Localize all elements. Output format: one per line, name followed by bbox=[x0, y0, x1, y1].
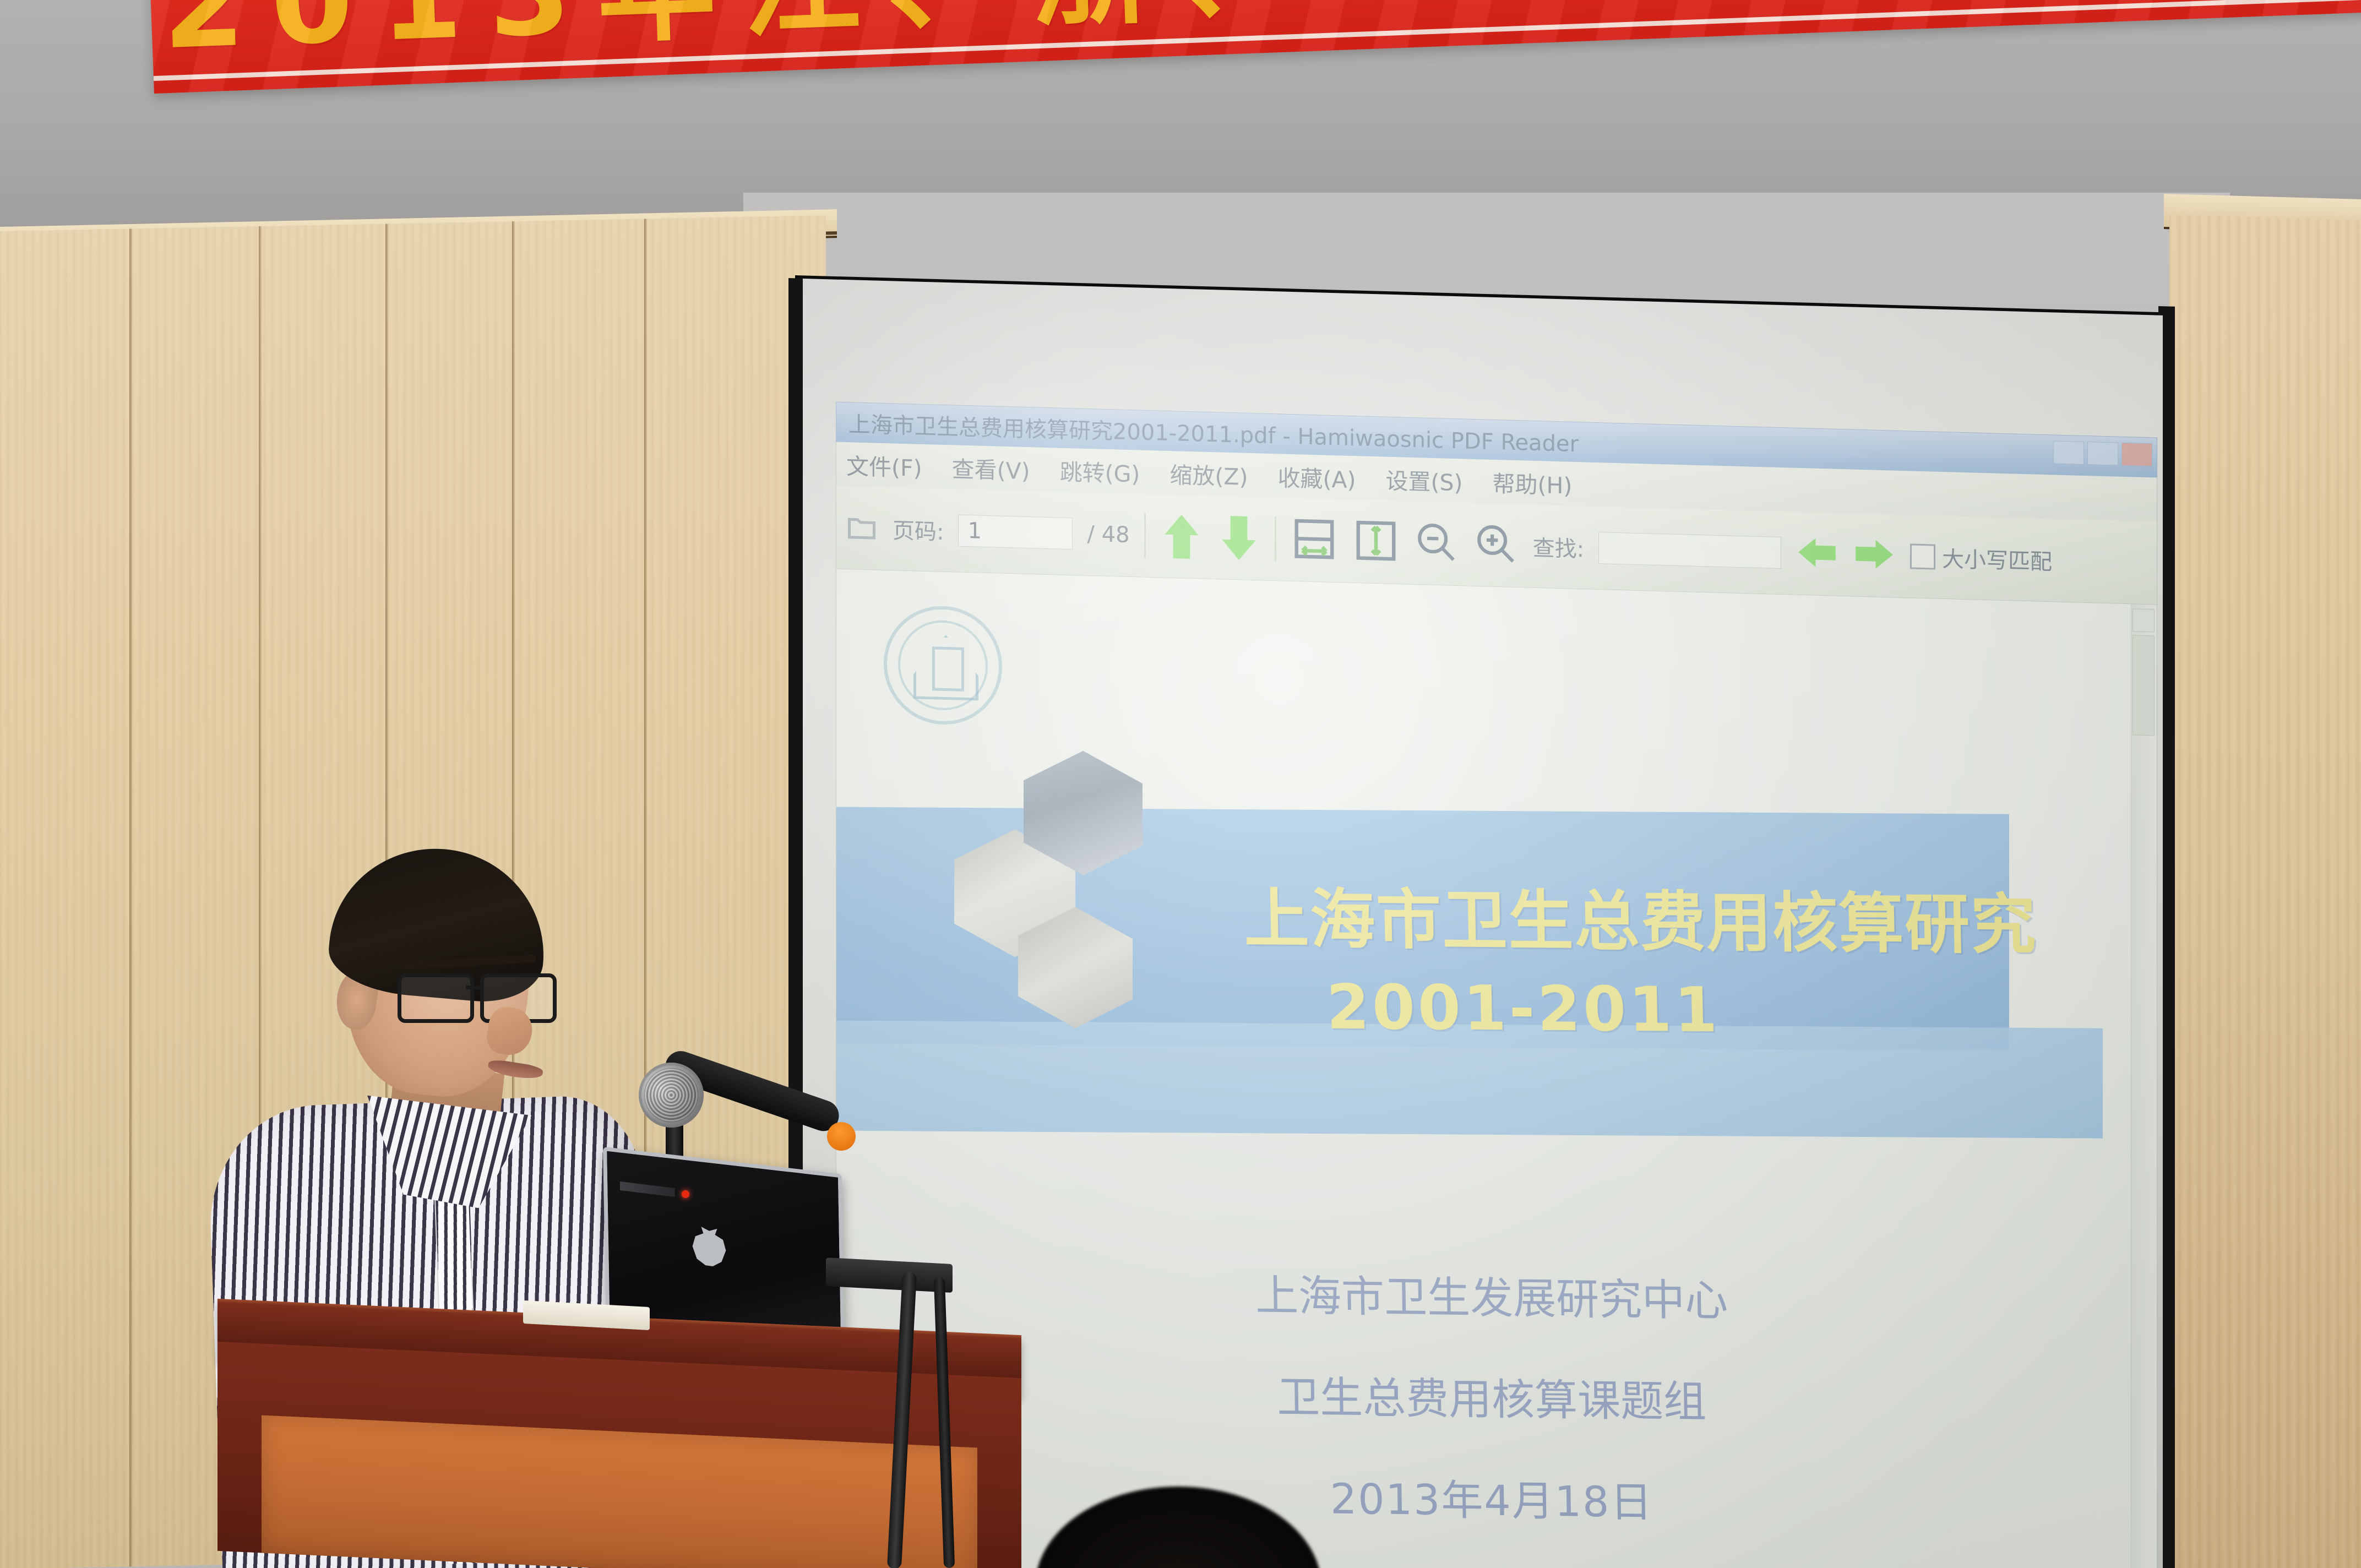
maximize-button[interactable] bbox=[2087, 442, 2118, 466]
pdf-reader-window[interactable]: 上海市卫生总费用核算研究2001-2011.pdf - Hamiwaosnic … bbox=[836, 402, 2157, 1568]
toolbar-separator-1 bbox=[1144, 513, 1146, 558]
page-total-label: / 48 bbox=[1087, 521, 1129, 548]
open-icon[interactable] bbox=[845, 511, 878, 545]
hex-photo-surgery bbox=[954, 827, 1075, 959]
match-case-checkbox[interactable] bbox=[1910, 543, 1935, 569]
menu-item-help[interactable]: 帮助(H) bbox=[1493, 465, 1573, 500]
menu-bar[interactable]: 文件(F) 查看(V) 跳转(G) 缩放(Z) 收藏(A) 设置(S) 帮助(H… bbox=[836, 442, 2157, 522]
title-band bbox=[836, 807, 2009, 1051]
minimize-button[interactable] bbox=[2053, 440, 2084, 465]
menu-item-favorites[interactable]: 收藏(A) bbox=[1277, 459, 1356, 494]
menu-item-view[interactable]: 查看(V) bbox=[952, 450, 1030, 486]
laptop-led-indicator bbox=[682, 1190, 689, 1198]
institute-seal-icon bbox=[884, 605, 1002, 726]
page-number-input[interactable]: 1 bbox=[958, 515, 1073, 550]
wood-wall-right bbox=[2169, 215, 2361, 1568]
window-controls[interactable] bbox=[2053, 440, 2152, 466]
pdf-page-viewport: 上海市卫生总费用核算研究 2001-2011 上海市卫生发展研究中心 卫生总费用… bbox=[836, 569, 2157, 1568]
match-case-checkbox-wrap[interactable]: 大小写匹配 bbox=[1910, 540, 2052, 576]
zoom-out-icon[interactable] bbox=[1414, 519, 1459, 568]
scrollbar-thumb[interactable] bbox=[2132, 635, 2155, 736]
find-input[interactable] bbox=[1598, 532, 1781, 569]
toolbar-separator-2 bbox=[1275, 516, 1276, 562]
menu-item-file[interactable]: 文件(F) bbox=[846, 448, 922, 483]
fit-width-icon[interactable] bbox=[1291, 515, 1338, 565]
fit-page-icon[interactable] bbox=[1352, 516, 1400, 567]
slide-year-range: 2001-2011 bbox=[1326, 972, 1721, 1047]
zoom-in-icon[interactable] bbox=[1473, 521, 1519, 569]
toolbar[interactable]: 页码: 1 / 48 bbox=[836, 486, 2157, 605]
hex-photo-doctor bbox=[1024, 749, 1143, 877]
window-titlebar[interactable]: 上海市卫生总费用核算研究2001-2011.pdf - Hamiwaosnic … bbox=[836, 402, 2157, 478]
find-next-icon[interactable] bbox=[1853, 535, 1896, 576]
menu-item-zoom[interactable]: 缩放(Z) bbox=[1169, 456, 1248, 492]
close-button[interactable] bbox=[2121, 443, 2152, 467]
arrow-down-icon[interactable] bbox=[1217, 512, 1260, 564]
slide-title: 上海市卫生总费用核算研究 bbox=[1243, 865, 2037, 966]
arrow-up-icon[interactable] bbox=[1160, 511, 1203, 563]
footer-line-institute: 上海市卫生发展研究中心 bbox=[1188, 1261, 1795, 1330]
footer-line-team: 卫生总费用核算课题组 bbox=[1188, 1362, 1795, 1431]
vertical-scrollbar[interactable] bbox=[2131, 604, 2157, 1568]
menu-item-goto[interactable]: 跳转(G) bbox=[1060, 454, 1140, 489]
match-case-label: 大小写匹配 bbox=[1942, 541, 2052, 576]
eyeglasses-icon bbox=[398, 973, 557, 1020]
page-label: 页码: bbox=[893, 513, 944, 546]
find-prev-icon[interactable] bbox=[1796, 533, 1838, 575]
find-label: 查找: bbox=[1533, 530, 1584, 564]
menu-item-settings[interactable]: 设置(S) bbox=[1386, 462, 1463, 498]
presentation-scene: 2013年江、浙、 上海市卫生总费用核算研究2001-2011.pdf - Ha… bbox=[0, 0, 2361, 1568]
scroll-up-arrow-icon[interactable] bbox=[2132, 608, 2155, 632]
hex-photo-lab bbox=[1018, 906, 1133, 1030]
slide-page-1: 上海市卫生总费用核算研究 2001-2011 上海市卫生发展研究中心 卫生总费用… bbox=[836, 569, 2132, 1568]
window-title: 上海市卫生总费用核算研究2001-2011.pdf - Hamiwaosnic … bbox=[836, 406, 1579, 458]
title-band-secondary bbox=[836, 1021, 2103, 1139]
